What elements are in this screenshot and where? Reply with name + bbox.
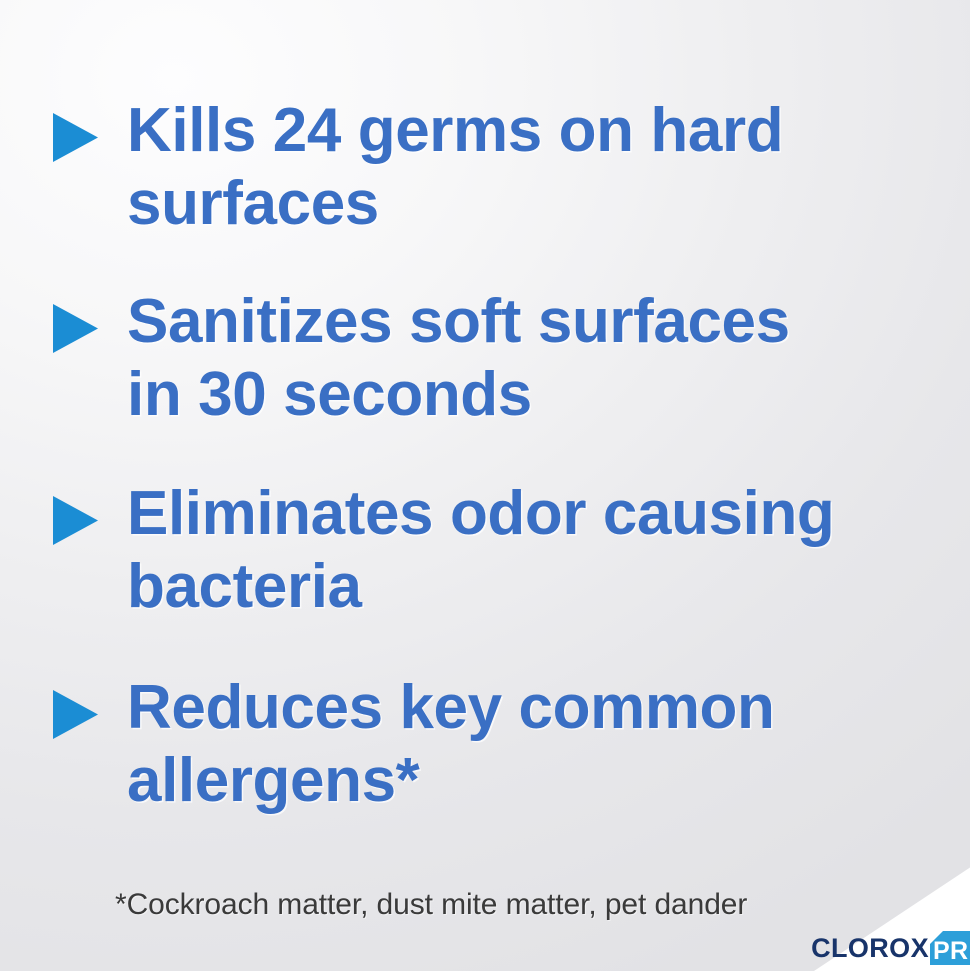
logo-mark-text: PR [933,939,968,964]
triangle-right-icon [53,113,98,162]
logo-pro-mark: PR [930,931,970,965]
logo-wordmark-text: CLOROX [811,935,929,962]
list-item: Kills 24 germs on hard surfaces [53,94,783,240]
triangle-right-icon [53,304,98,353]
claim-text: Eliminates odor causing bacteria [127,477,834,623]
list-item: Reduces key common allergens* [53,671,775,817]
triangle-right-icon [53,690,98,739]
list-item: Eliminates odor causing bacteria [53,477,834,623]
claim-text: Kills 24 germs on hard surfaces [127,94,783,240]
list-item: Sanitizes soft surfaces in 30 seconds [53,285,790,431]
logo-mark-notch [930,931,943,944]
triangle-right-icon [53,496,98,545]
claim-text: Sanitizes soft surfaces in 30 seconds [127,285,790,431]
claim-text: Reduces key common allergens* [127,671,775,817]
product-claims-graphic: Kills 24 germs on hard surfaces Sanitize… [0,0,970,971]
clorox-pro-logo: CLOROX PR [811,931,970,965]
footnote-disclaimer: *Cockroach matter, dust mite matter, pet… [115,886,747,924]
